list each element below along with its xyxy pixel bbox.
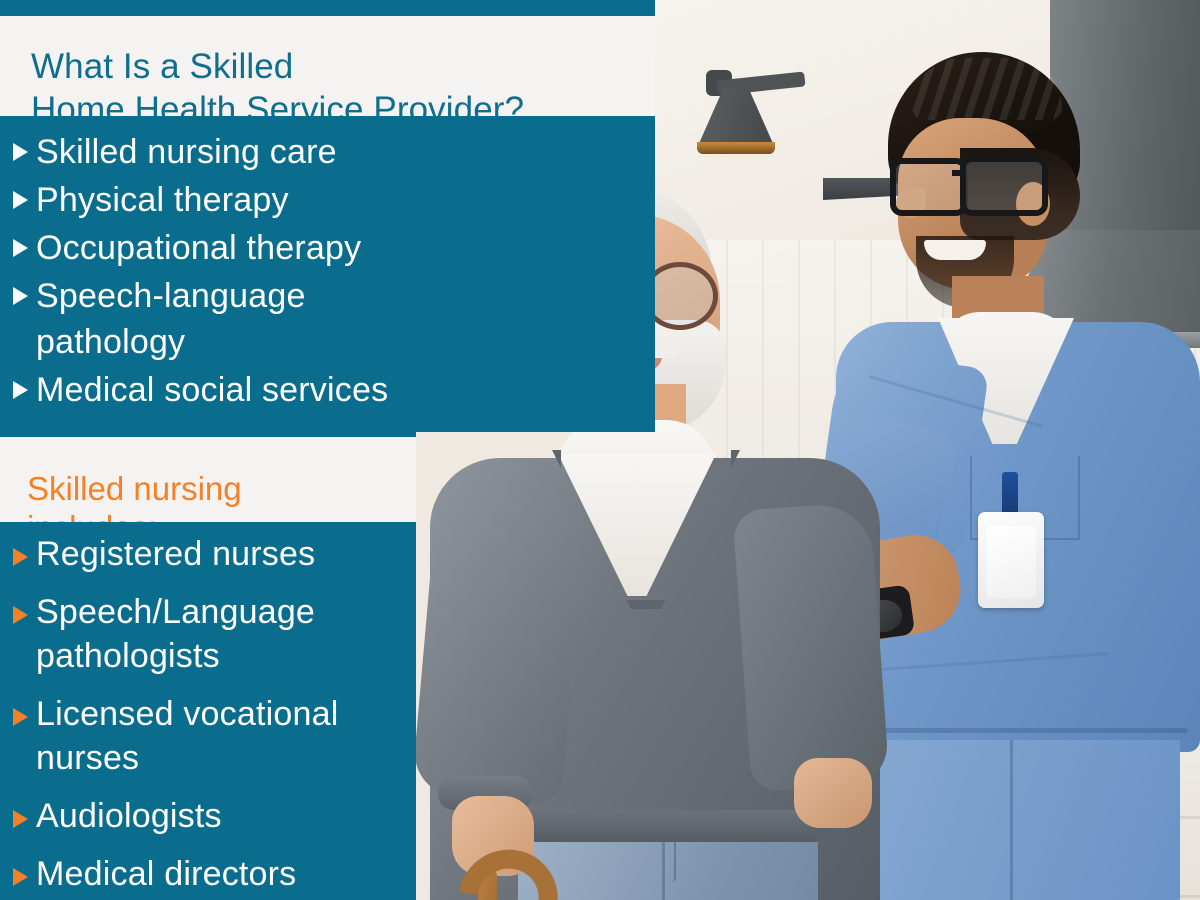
list-item-label: Occupational therapy [36,225,361,271]
list-item[interactable]: Speech/Language pathologists [0,590,470,678]
list-item-label: Medical directors [36,852,296,896]
nursing-list: Registered nurses Speech/Language pathol… [0,532,470,900]
list-item-label: Registered nurses [36,532,315,576]
list-item-label: Speech/Language pathologists [36,590,315,678]
triangle-right-icon [13,191,28,209]
list-item-label: Medical social services [36,367,388,413]
list-item[interactable]: Medical directors [0,852,470,896]
list-item-label: Audiologists [36,794,222,838]
services-list: Skilled nursing care Physical therapy Oc… [0,129,500,415]
list-item[interactable]: Skilled nursing care [0,129,500,175]
nurse-id-badge-window [986,526,1036,598]
elder-jeans-fly [640,842,676,882]
nurse-pant-seam [1010,740,1013,900]
triangle-right-icon [13,708,28,726]
triangle-right-icon [13,548,28,566]
list-item[interactable]: Physical therapy [0,177,500,223]
list-item-label: Skilled nursing care [36,129,337,175]
triangle-right-icon [13,381,28,399]
list-item[interactable]: Occupational therapy [0,225,500,271]
triangle-right-icon [13,287,28,305]
list-item[interactable]: Speech-language pathology [0,273,500,365]
list-item-label: Speech-language pathology [36,273,306,365]
triangle-right-icon [13,143,28,161]
list-item[interactable]: Registered nurses [0,532,470,576]
elder-right-hand [794,758,872,828]
triangle-right-icon [13,868,28,886]
triangle-right-icon [13,810,28,828]
nurse-smile [924,240,986,260]
triangle-right-icon [13,239,28,257]
list-item-label: Physical therapy [36,177,289,223]
triangle-right-icon [13,606,28,624]
nurse-eyeglasses-bridge [952,170,966,176]
top-accent-strip [0,0,655,16]
list-item[interactable]: Audiologists [0,794,470,838]
elder-sweater-hem [500,810,816,844]
list-item[interactable]: Licensed vocational nurses [0,692,470,780]
nurse-eyeglasses-right-lens [960,156,1048,216]
elder-right-sleeve [732,502,889,793]
wall-lamp-glow [697,142,775,154]
nurse-hair-texture [912,58,1062,120]
nurse-scrub-pants [854,740,1180,900]
nurse-eyeglasses-left-lens [890,158,968,216]
list-item-label: Licensed vocational nurses [36,692,338,780]
list-item[interactable]: Medical social services [0,367,500,413]
infographic-canvas: What Is a Skilled Home Health Service Pr… [0,0,1200,900]
